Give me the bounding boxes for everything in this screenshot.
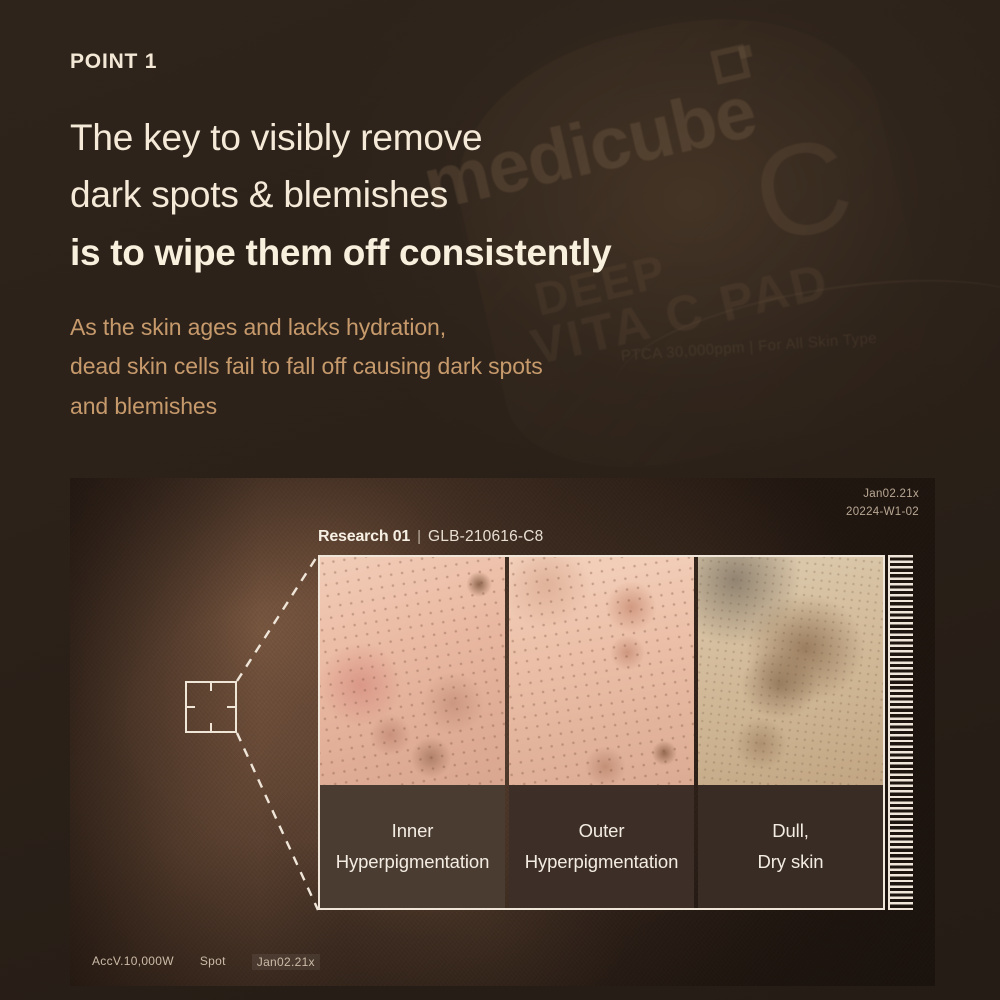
subtext-line-3: and blemishes: [70, 387, 770, 427]
status-accv: AccV.10,000W: [92, 954, 174, 970]
sample-cell-inner[interactable]: Inner Hyperpigmentation: [320, 557, 505, 908]
selection-tick-right: [227, 706, 236, 708]
panel-metadata: Jan02.21x 20224-W1-02: [846, 486, 919, 522]
selection-tick-left: [186, 706, 195, 708]
headline-line-3: is to wipe them off consistently: [70, 224, 770, 282]
zoom-selection-box[interactable]: [185, 681, 237, 733]
status-magnification: Jan02.21x: [252, 954, 320, 970]
ruler-spine: [888, 555, 890, 910]
sample-caption-outer: Outer Hyperpigmentation: [509, 785, 694, 908]
research-panel: Jan02.21x 20224-W1-02 Research 01 | GLB-…: [70, 478, 935, 986]
metadata-line-2: 20224-W1-02: [846, 504, 919, 522]
sample-grid: Inner Hyperpigmentation Outer Hyperpigme…: [318, 555, 885, 910]
sample-cell-outer[interactable]: Outer Hyperpigmentation: [509, 557, 694, 908]
selection-tick-bottom: [210, 723, 212, 732]
caption-line-1: Dull,: [772, 819, 809, 844]
sample-photo-inner: [320, 557, 505, 785]
headline-line-2: dark spots & blemishes: [70, 167, 770, 224]
sample-cell-dull[interactable]: Dull, Dry skin: [698, 557, 883, 908]
metadata-line-1: Jan02.21x: [846, 486, 919, 504]
research-label: Research 01: [318, 528, 410, 546]
sample-photo-outer: [509, 557, 694, 785]
research-code: GLB-210616-C8: [428, 528, 543, 546]
panel-statusbar: AccV.10,000W Spot Jan02.21x: [92, 954, 320, 970]
subtext-line-1: As the skin ages and lacks hydration,: [70, 308, 770, 348]
pore-texture: [698, 557, 883, 785]
sample-caption-inner: Inner Hyperpigmentation: [320, 785, 505, 908]
research-divider: |: [417, 528, 421, 545]
subtext-block: As the skin ages and lacks hydration, de…: [70, 308, 770, 427]
caption-line-1: Inner: [392, 819, 434, 844]
caption-line-2: Hyperpigmentation: [336, 850, 490, 875]
subtext-line-2: dead skin cells fail to fall off causing…: [70, 347, 770, 387]
headline-line-1: The key to visibly remove: [70, 110, 770, 167]
status-mode: Spot: [200, 954, 226, 970]
sample-photo-dull: [698, 557, 883, 785]
pore-texture: [509, 557, 694, 785]
caption-line-2: Dry skin: [757, 850, 823, 875]
caption-line-2: Hyperpigmentation: [525, 850, 679, 875]
headline-block: POINT 1 The key to visibly remove dark s…: [70, 50, 770, 426]
research-title-row: Research 01 | GLB-210616-C8: [318, 528, 543, 546]
sample-caption-dull: Dull, Dry skin: [698, 785, 883, 908]
promo-page: medicube C DEEP VITA C PAD PTCA 30,000pp…: [0, 0, 1000, 1000]
point-label: POINT 1: [70, 50, 770, 74]
pore-texture: [320, 557, 505, 785]
measurement-ruler: [888, 555, 913, 910]
caption-line-1: Outer: [579, 819, 625, 844]
selection-tick-top: [210, 682, 212, 691]
